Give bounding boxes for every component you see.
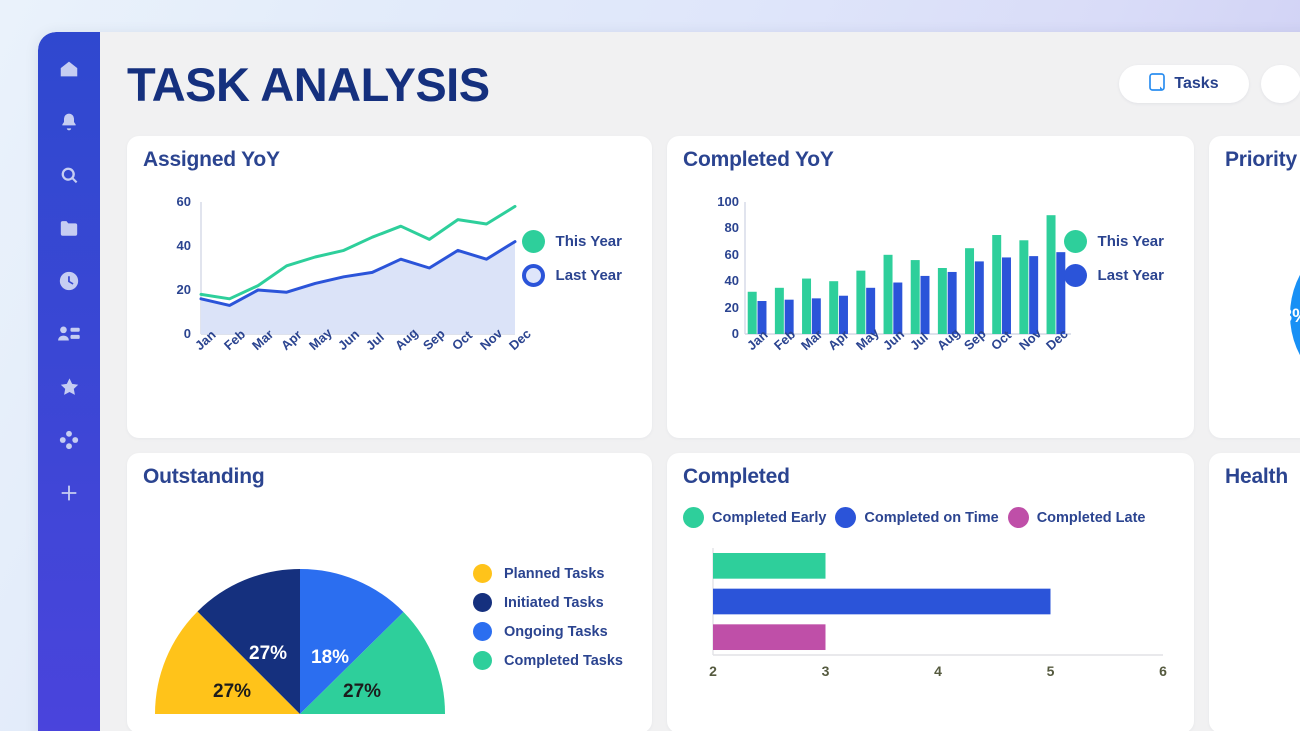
legend-label-last-year: Last Year xyxy=(556,267,622,284)
card-completed-yoy: Completed YoY 020406080100 JanFebMarAprM… xyxy=(667,136,1194,438)
slice-label-planned: 27% xyxy=(213,681,251,703)
page-backdrop: TASK ANALYSIS Tasks xyxy=(0,0,1300,731)
legend-item-completed-early[interactable]: Completed Early xyxy=(683,507,826,528)
apps-icon[interactable] xyxy=(54,425,84,455)
star-icon[interactable] xyxy=(54,372,84,402)
legend-label-this-year: This Year xyxy=(556,233,622,250)
legend-outstanding: Planned Tasks Initiated Tasks Ongoing Ta… xyxy=(473,564,623,670)
legend-item-this-year[interactable]: This Year xyxy=(522,230,622,253)
page-header: TASK ANALYSIS Tasks xyxy=(100,32,1300,136)
legend-assigned: This Year Last Year xyxy=(522,230,622,287)
hbar-chart-svg xyxy=(705,542,1175,667)
legend-swatch-completed-early xyxy=(683,507,704,528)
chart-completed-bars: 23456 xyxy=(683,528,1178,708)
y-tick-100: 100 xyxy=(683,194,739,209)
page-title: TASK ANALYSIS xyxy=(127,61,490,108)
x-tick-6: 6 xyxy=(1159,663,1167,679)
card-health: Health 100806040200 xyxy=(1209,453,1300,731)
y-tick-40: 40 xyxy=(683,273,739,288)
legend-item-planned[interactable]: Planned Tasks xyxy=(473,564,623,583)
chart-priority: 33% xyxy=(1225,172,1300,418)
legend-swatch-completed-on-time xyxy=(835,507,856,528)
card-title-completed: Completed xyxy=(683,465,1178,489)
bell-icon[interactable] xyxy=(54,107,84,137)
legend-item-last-year[interactable]: Last Year xyxy=(1064,264,1164,287)
legend-label-completed-on-time: Completed on Time xyxy=(864,510,998,526)
y-tick-0: 0 xyxy=(683,326,739,341)
folder-icon[interactable] xyxy=(54,213,84,243)
card-title-assigned: Assigned YoY xyxy=(143,148,636,172)
card-title-outstanding: Outstanding xyxy=(143,465,636,489)
slice-label-ongoing: 18% xyxy=(311,647,349,669)
chart-completed-yoy: 020406080100 JanFebMarAprMayJunJulAugSep… xyxy=(683,172,1178,418)
card-completed: Completed Completed Early Completed on T… xyxy=(667,453,1194,731)
chart-assigned-yoy: 0204060 JanFebMarAprMayJunJulAugSepOctNo… xyxy=(143,172,636,418)
x-tick-5: 5 xyxy=(1047,663,1055,679)
document-icon xyxy=(1149,73,1165,96)
legend-item-completed[interactable]: Completed Tasks xyxy=(473,651,623,670)
legend-swatch-completed-late xyxy=(1008,507,1029,528)
plus-icon[interactable] xyxy=(54,478,84,508)
dashboard-grid: Assigned YoY 0204060 JanFebMarAprMayJunJ… xyxy=(100,136,1300,731)
slice-label-completed: 27% xyxy=(343,681,381,703)
x-tick-2: 2 xyxy=(709,663,717,679)
card-assigned-yoy: Assigned YoY 0204060 JanFebMarAprMayJunJ… xyxy=(127,136,652,438)
legend-swatch-this-year xyxy=(1064,230,1087,253)
y-tick-20: 20 xyxy=(683,300,739,315)
card-title-completed-yoy: Completed YoY xyxy=(683,148,1178,172)
legend-item-last-year[interactable]: Last Year xyxy=(522,264,622,287)
main-content: TASK ANALYSIS Tasks xyxy=(100,32,1300,731)
y-tick-60: 60 xyxy=(143,194,191,209)
legend-item-this-year[interactable]: This Year xyxy=(1064,230,1164,253)
card-title-health: Health xyxy=(1225,465,1300,489)
search-icon[interactable] xyxy=(54,160,84,190)
y-tick-40: 40 xyxy=(143,238,191,253)
legend-item-ongoing[interactable]: Ongoing Tasks xyxy=(473,622,623,641)
secondary-button[interactable] xyxy=(1261,65,1300,103)
legend-label-planned: Planned Tasks xyxy=(504,566,604,582)
legend-swatch-last-year xyxy=(522,264,545,287)
app-window: TASK ANALYSIS Tasks xyxy=(38,32,1300,731)
legend-swatch-last-year xyxy=(1064,264,1087,287)
header-actions: Tasks xyxy=(1119,65,1300,103)
legend-swatch-completed xyxy=(473,651,492,670)
legend-label-initiated: Initiated Tasks xyxy=(504,595,604,611)
y-tick-20: 20 xyxy=(143,282,191,297)
home-icon[interactable] xyxy=(54,54,84,84)
legend-label-ongoing: Ongoing Tasks xyxy=(504,624,608,640)
legend-label-completed-late: Completed Late xyxy=(1037,510,1146,526)
chart-health: 100806040200 xyxy=(1225,489,1300,713)
tasks-button[interactable]: Tasks xyxy=(1119,65,1249,103)
legend-swatch-this-year xyxy=(522,230,545,253)
slice-label-initiated: 27% xyxy=(249,643,287,665)
legend-label-last-year: Last Year xyxy=(1098,267,1164,284)
users-icon[interactable] xyxy=(54,319,84,349)
chart-outstanding: 27% 27% 18% 27% Planned Tasks Initiated xyxy=(143,489,636,713)
legend-completed: Completed Early Completed on Time Comple… xyxy=(683,507,1178,528)
pie-slice-label-33: 33% xyxy=(1271,306,1300,328)
legend-swatch-ongoing xyxy=(473,622,492,641)
legend-label-completed: Completed Tasks xyxy=(504,653,623,669)
clock-icon[interactable] xyxy=(54,266,84,296)
card-outstanding: Outstanding 27% 27% xyxy=(127,453,652,731)
card-title-priority: Priority xyxy=(1225,148,1300,172)
legend-swatch-planned xyxy=(473,564,492,583)
legend-item-completed-on-time[interactable]: Completed on Time xyxy=(835,507,998,528)
x-tick-3: 3 xyxy=(822,663,830,679)
legend-label-completed-early: Completed Early xyxy=(712,510,826,526)
legend-completed-yoy: This Year Last Year xyxy=(1064,230,1164,287)
tasks-button-label: Tasks xyxy=(1174,75,1218,93)
legend-label-this-year: This Year xyxy=(1098,233,1164,250)
legend-swatch-initiated xyxy=(473,593,492,612)
semicircle-chart-svg xyxy=(135,549,465,724)
y-tick-0: 0 xyxy=(143,326,191,341)
y-tick-80: 80 xyxy=(683,220,739,235)
y-tick-60: 60 xyxy=(683,247,739,262)
legend-item-initiated[interactable]: Initiated Tasks xyxy=(473,593,623,612)
legend-item-completed-late[interactable]: Completed Late xyxy=(1008,507,1146,528)
card-priority: Priority 33% xyxy=(1209,136,1300,438)
x-tick-4: 4 xyxy=(934,663,942,679)
sidebar xyxy=(38,32,100,731)
